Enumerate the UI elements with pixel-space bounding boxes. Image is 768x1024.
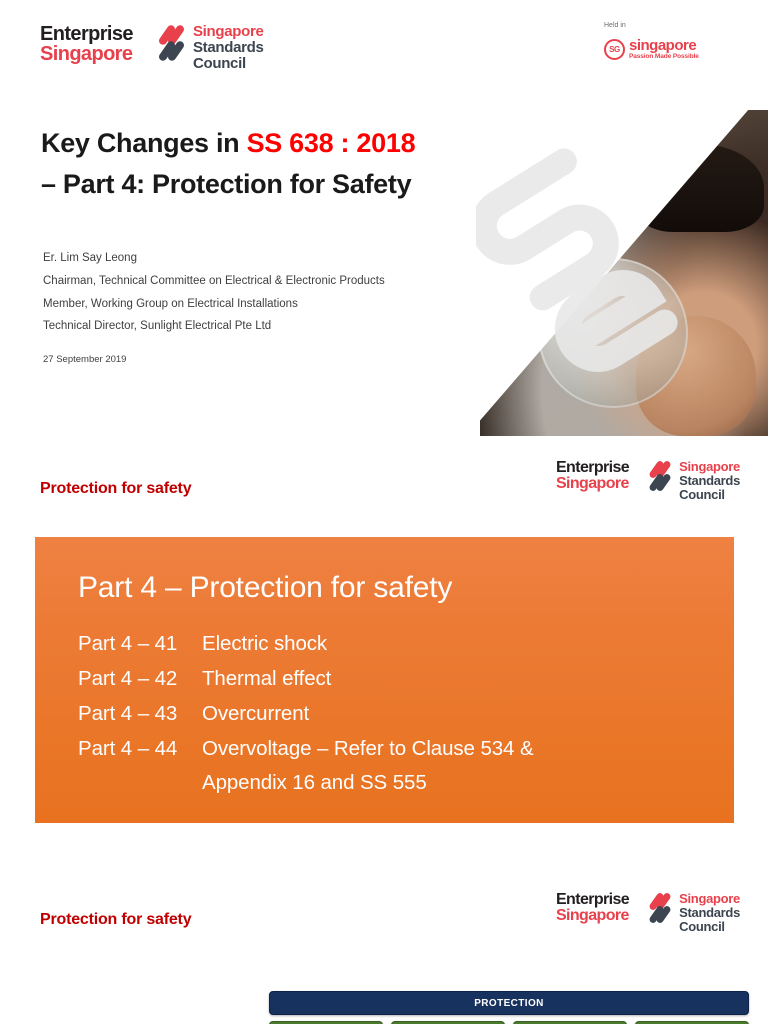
item-text: Overvoltage – Refer to Clause 534 & <box>202 737 534 760</box>
callout-list: Part 4 – 41Electric shock Part 4 – 42The… <box>78 627 534 801</box>
enterprise-singapore-line1: Enterprise <box>556 892 629 908</box>
sg-tagline: Passion Made Possible <box>629 53 699 61</box>
presentation-date: 27 September 2019 <box>43 354 126 365</box>
author-role-member: Member, Working Group on Electrical Inst… <box>43 293 543 316</box>
list-item-continuation: Appendix 16 and SS 555 <box>78 766 534 801</box>
title-standard-code: SS 638 : 2018 <box>247 128 416 158</box>
singapore-standards-council-logo: Singapore Standards Council <box>651 892 740 933</box>
enterprise-singapore-line1: Enterprise <box>40 24 133 44</box>
item-number: Part 4 – 41 <box>78 627 202 662</box>
list-item: Part 4 – 41Electric shock <box>78 627 534 662</box>
author-role-chairman: Chairman, Technical Committee on Electri… <box>43 270 543 293</box>
author-name: Er. Lim Say Leong <box>43 247 543 270</box>
ssc-line2: Standards <box>679 474 740 488</box>
title-prefix: Key Changes in <box>41 128 247 158</box>
singapore-standards-council-logo: Singapore Standards Council <box>161 24 264 72</box>
item-continuation-text: Appendix 16 and SS 555 <box>202 771 427 794</box>
protection-diagram: PROTECTION <box>269 991 749 1024</box>
ssc-line2: Standards <box>193 40 264 56</box>
enterprise-singapore-line2: Singapore <box>556 476 629 492</box>
ssc-line3: Council <box>679 488 740 502</box>
item-number: Part 4 – 43 <box>78 697 202 732</box>
ssc-line1: Singapore <box>679 460 740 474</box>
section-heading: Protection for safety <box>40 480 191 498</box>
slide-protection-diagram: Protection for safety Enterprise Singapo… <box>0 868 768 1024</box>
enterprise-singapore-logo: Enterprise Singapore <box>40 24 133 65</box>
slide-title: Enterprise Singapore Singapore Standards… <box>0 0 768 436</box>
enterprise-singapore-line1: Enterprise <box>556 460 629 476</box>
ssc-line1: Singapore <box>193 24 264 40</box>
list-item: Part 4 – 44Overvoltage – Refer to Clause… <box>78 732 534 767</box>
slide-logo-row: Enterprise Singapore Singapore Standards… <box>556 892 740 933</box>
header-logo-row: Enterprise Singapore Singapore Standards… <box>40 24 264 72</box>
ssc-line3: Council <box>679 920 740 934</box>
enterprise-singapore-line2: Singapore <box>556 908 629 924</box>
author-block: Er. Lim Say Leong Chairman, Technical Co… <box>43 247 543 338</box>
part4-callout-box: Part 4 – Protection for safety Part 4 – … <box>35 537 734 823</box>
item-text: Overcurrent <box>202 702 309 725</box>
ssc-ribbon-icon <box>651 460 673 494</box>
title-line2: – Part 4: Protection for Safety <box>41 169 411 199</box>
callout-title: Part 4 – Protection for safety <box>78 571 452 605</box>
ssc-ribbon-icon <box>161 24 187 64</box>
item-text: Electric shock <box>202 632 327 655</box>
ssc-line2: Standards <box>679 906 740 920</box>
diagram-root-label: PROTECTION <box>474 998 544 1009</box>
section-heading: Protection for safety <box>40 911 191 929</box>
ssc-line3: Council <box>193 56 264 72</box>
slide-part4-overview: Protection for safety Enterprise Singapo… <box>0 436 768 868</box>
list-item: Part 4 – 43Overcurrent <box>78 697 534 732</box>
sg-monogram-icon: SG <box>604 39 625 60</box>
sg-monogram-text: SG <box>609 45 620 54</box>
singapore-brand-logo: SG singapore Passion Made Possible <box>604 38 734 61</box>
diagram-root-node: PROTECTION <box>269 991 749 1015</box>
held-in-label: Held in <box>604 22 734 29</box>
author-role-director: Technical Director, Sunlight Electrical … <box>43 315 543 338</box>
page-title: Key Changes in SS 638 : 2018 – Part 4: P… <box>41 123 581 205</box>
ssc-line1: Singapore <box>679 892 740 906</box>
slide-logo-row: Enterprise Singapore Singapore Standards… <box>556 460 740 501</box>
enterprise-singapore-logo: Enterprise Singapore <box>556 460 629 493</box>
item-text: Thermal effect <box>202 667 331 690</box>
item-number: Part 4 – 42 <box>78 662 202 697</box>
list-item: Part 4 – 42Thermal effect <box>78 662 534 697</box>
ssc-ribbon-icon <box>651 892 673 926</box>
document-page: Enterprise Singapore Singapore Standards… <box>0 0 768 1024</box>
enterprise-singapore-logo: Enterprise Singapore <box>556 892 629 925</box>
item-number: Part 4 – 44 <box>78 732 202 767</box>
enterprise-singapore-line2: Singapore <box>40 44 133 64</box>
sg-wordmark: singapore <box>629 38 699 53</box>
held-in-block: Held in SG singapore Passion Made Possib… <box>604 22 734 61</box>
singapore-standards-council-logo: Singapore Standards Council <box>651 460 740 501</box>
